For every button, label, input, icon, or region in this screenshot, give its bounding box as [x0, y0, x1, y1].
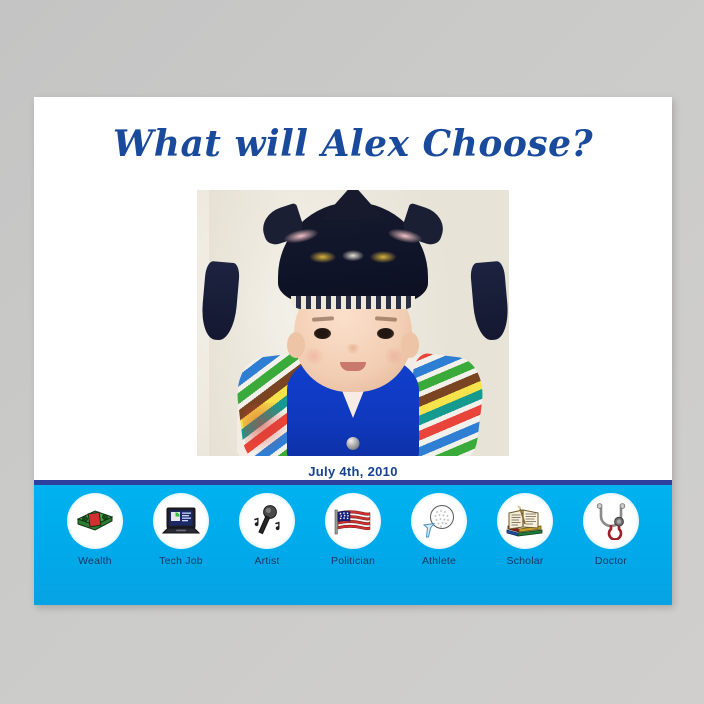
- laptop-icon: [153, 493, 209, 549]
- microphone-icon: [239, 493, 295, 549]
- page-title: What will Alex Choose?: [34, 123, 672, 165]
- choices-row: $ $ Wealth: [34, 493, 672, 567]
- books-icon: [497, 493, 553, 549]
- choice-doctor[interactable]: Doctor: [574, 493, 648, 567]
- eye-left: [314, 328, 331, 339]
- choice-politician[interactable]: Politician: [316, 493, 390, 567]
- choice-artist[interactable]: Artist: [230, 493, 304, 567]
- hat-flap-left: [200, 261, 241, 342]
- choice-label: Tech Job: [159, 555, 203, 567]
- korean-hat-icon: [278, 202, 428, 306]
- poster[interactable]: What will Alex Choose?: [34, 97, 672, 605]
- eyebrow-left: [312, 316, 334, 322]
- hat-embroidery: [299, 240, 407, 274]
- choices-band: $ $ Wealth: [34, 480, 672, 605]
- eyebrow-right: [375, 316, 397, 322]
- event-date: July 4th, 2010: [34, 464, 672, 479]
- golf-ball-tee-icon: [411, 493, 467, 549]
- baby-figure: [197, 190, 509, 456]
- nose: [345, 344, 361, 354]
- choice-tech-job[interactable]: Tech Job: [144, 493, 218, 567]
- hat-brim: [291, 296, 415, 309]
- choice-label: Wealth: [78, 555, 112, 567]
- eye-right: [377, 328, 394, 339]
- choice-scholar[interactable]: Scholar: [488, 493, 562, 567]
- choice-athlete[interactable]: Athlete: [402, 493, 476, 567]
- choice-label: Artist: [254, 555, 279, 567]
- product-preview-stage: What will Alex Choose?: [0, 0, 704, 704]
- hat-peak: [321, 190, 385, 220]
- baby-photo: [197, 190, 509, 456]
- hat-flap-right: [470, 261, 509, 342]
- mouth: [340, 362, 366, 371]
- cheek-left: [302, 348, 326, 364]
- stethoscope-icon: [583, 493, 639, 549]
- choice-label: Scholar: [506, 555, 543, 567]
- choice-label: Athlete: [422, 555, 456, 567]
- us-flag-icon: [325, 493, 381, 549]
- cheek-right: [382, 348, 406, 364]
- choice-wealth[interactable]: $ $ Wealth: [58, 493, 132, 567]
- vest-button: [347, 437, 360, 450]
- choice-label: Doctor: [595, 555, 627, 567]
- choice-label: Politician: [331, 555, 375, 567]
- money-stack-icon: $ $: [67, 493, 123, 549]
